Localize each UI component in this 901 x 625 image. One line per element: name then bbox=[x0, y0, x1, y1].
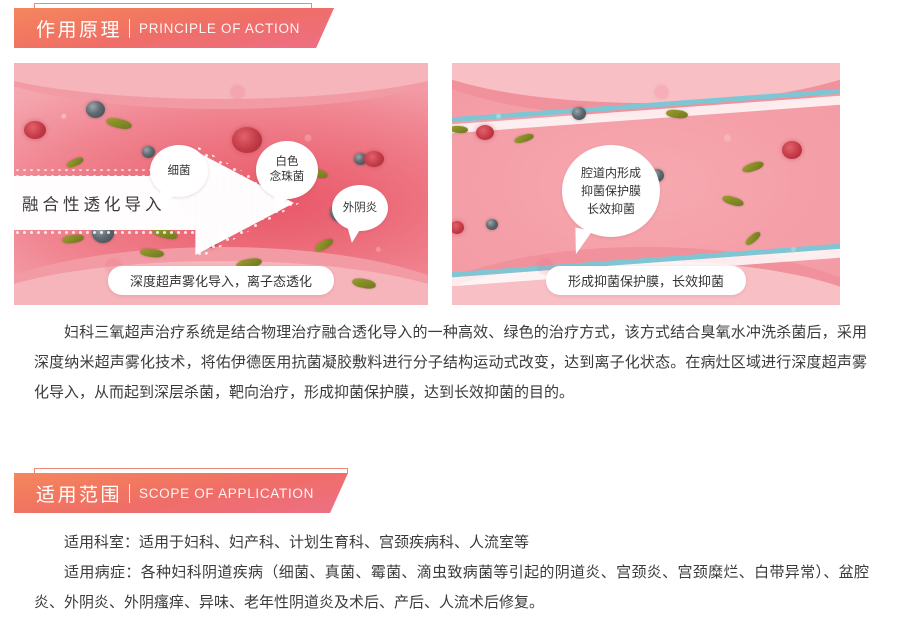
scope-text-block: 适用科室：适用于妇科、妇产科、计划生育科、宫颈疾病科、人流室等 适用病症：各种妇… bbox=[34, 528, 869, 618]
figure-right: 腔道内形成 抑菌保护膜 长效抑菌 形成抑菌保护膜，长效抑菌 bbox=[452, 63, 840, 305]
callout-line: 白色 bbox=[276, 155, 299, 170]
arrow-label: 融合性透化导入 bbox=[22, 191, 166, 215]
callout-candida: 白色 念珠菌 bbox=[256, 141, 318, 199]
callout-line: 抑菌保护膜 bbox=[581, 182, 641, 200]
inflamed-cell-icon bbox=[24, 121, 46, 139]
callout-bacteria: 细菌 bbox=[150, 145, 208, 197]
figure-left-caption: 深度超声雾化导入，离子态透化 bbox=[108, 266, 334, 295]
section-banner-scope: 适用范围 SCOPE OF APPLICATION bbox=[14, 473, 348, 513]
scope-departments: 适用科室：适用于妇科、妇产科、计划生育科、宫颈疾病科、人流室等 bbox=[34, 528, 869, 558]
banner-outline-top bbox=[34, 468, 348, 473]
banner-divider bbox=[129, 19, 130, 38]
banner-principle: 作用原理 PRINCIPLE OF ACTION bbox=[14, 8, 334, 48]
callout-line: 念珠菌 bbox=[270, 170, 305, 185]
pathogen-cell-icon bbox=[86, 101, 105, 118]
bacteria-rod-icon bbox=[452, 125, 468, 133]
figure-right-caption: 形成抑菌保护膜，长效抑菌 bbox=[546, 266, 746, 295]
principle-paragraph: 妇科三氧超声治疗系统是结合物理治疗融合透化导入的一种高效、绿色的治疗方式，该方式… bbox=[34, 318, 867, 408]
inflamed-cell-icon bbox=[232, 127, 262, 153]
banner-divider bbox=[129, 484, 130, 503]
figure-left: 融合性透化导入 细菌 白色 念珠菌 外阴炎 深度超声雾化导入，离子态透化 bbox=[14, 63, 428, 305]
banner-title-en: SCOPE OF APPLICATION bbox=[139, 486, 314, 501]
page-root: 作用原理 PRINCIPLE OF ACTION bbox=[0, 0, 901, 625]
figure-row: 融合性透化导入 细菌 白色 念珠菌 外阴炎 深度超声雾化导入，离子态透化 bbox=[0, 63, 901, 305]
scope-indications: 适用病症：各种妇科阴道疾病（细菌、真菌、霉菌、滴虫致病菌等引起的阴道炎、宫颈炎、… bbox=[34, 558, 869, 618]
callout-line: 外阴炎 bbox=[343, 201, 378, 216]
callout-line: 长效抑菌 bbox=[587, 200, 635, 218]
inflamed-cell-icon bbox=[476, 125, 494, 140]
callout-tail bbox=[345, 226, 361, 244]
banner-outline-top bbox=[34, 3, 312, 8]
banner-title-cn: 适用范围 bbox=[36, 480, 122, 507]
callout-protective-film: 腔道内形成 抑菌保护膜 长效抑菌 bbox=[562, 145, 660, 237]
pathogen-cell-icon bbox=[572, 107, 586, 120]
callout-line: 细菌 bbox=[168, 164, 191, 179]
pathogen-cell-icon bbox=[486, 219, 498, 230]
inflamed-cell-icon bbox=[364, 151, 384, 167]
banner-title-cn: 作用原理 bbox=[36, 15, 122, 42]
callout-tail bbox=[271, 195, 288, 213]
callout-vulvitis: 外阴炎 bbox=[332, 185, 388, 231]
banner-title-en: PRINCIPLE OF ACTION bbox=[139, 21, 300, 36]
banner-scope: 适用范围 SCOPE OF APPLICATION bbox=[14, 473, 348, 513]
section-banner-principle: 作用原理 PRINCIPLE OF ACTION bbox=[14, 8, 334, 48]
inflamed-cell-icon bbox=[782, 141, 802, 159]
callout-line: 腔道内形成 bbox=[581, 164, 641, 182]
